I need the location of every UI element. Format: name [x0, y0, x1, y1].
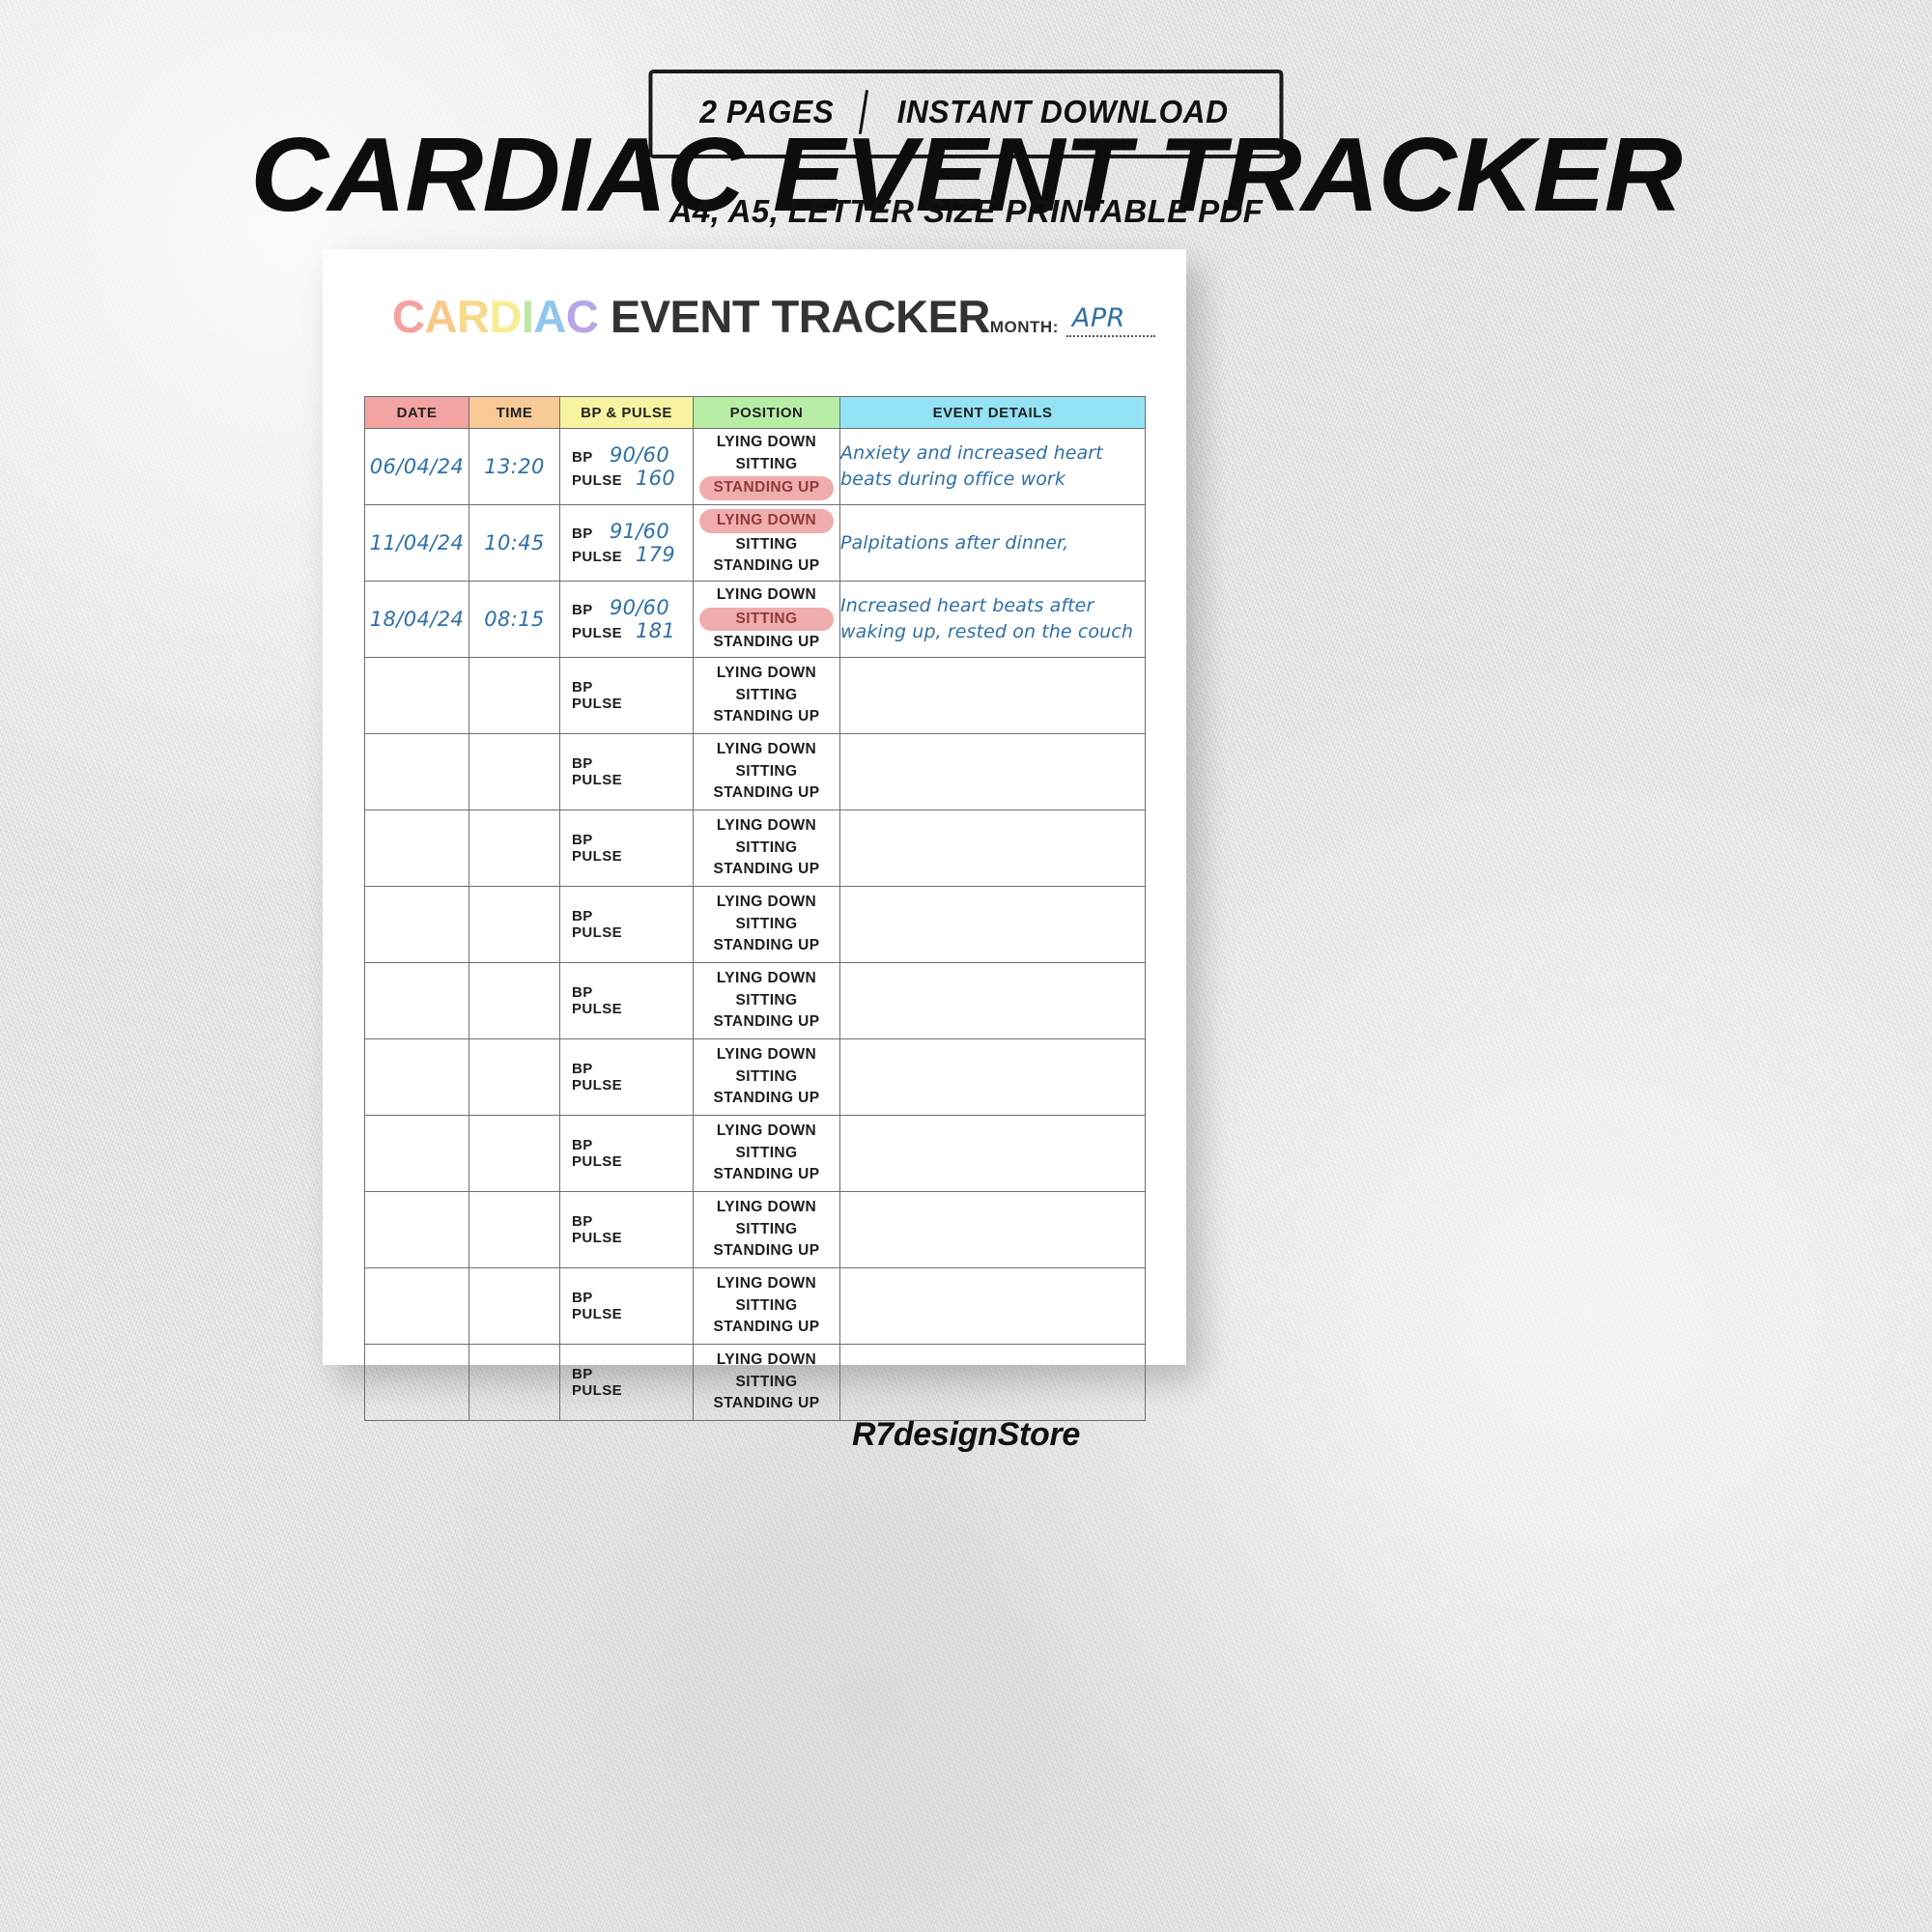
bp-label: BP	[572, 755, 593, 772]
pulse-value: 181	[636, 619, 683, 642]
table-row: 11/04/2410:45BP91/60PULSE179LYING DOWNSI…	[365, 505, 1146, 582]
cell-date[interactable]	[365, 1116, 469, 1192]
cell-position[interactable]: LYING DOWNSITTINGSTANDING UP	[694, 429, 840, 505]
pulse-label: PULSE	[572, 772, 622, 788]
cell-date[interactable]	[365, 963, 469, 1039]
position-option-standing-up[interactable]: STANDING UP	[694, 632, 839, 654]
bp-line-pulse: PULSE	[572, 696, 683, 712]
title-letter-3: R	[457, 291, 489, 342]
pulse-label: PULSE	[572, 472, 622, 489]
position-option-standing-up[interactable]: STANDING UP	[694, 1240, 839, 1263]
cell-time[interactable]	[469, 1039, 560, 1116]
bp-line-bp: BP	[572, 1366, 683, 1382]
pulse-label: PULSE	[572, 848, 622, 865]
pulse-label: PULSE	[572, 696, 622, 712]
bp-value: 90/60	[610, 596, 683, 619]
bp-line-pulse: PULSE	[572, 1077, 683, 1094]
bp-line-bp: BP	[572, 1061, 683, 1077]
bp-value: 91/60	[610, 520, 683, 543]
cell-time[interactable]	[469, 1192, 560, 1268]
position-option-lying-down[interactable]: LYING DOWN	[694, 892, 839, 914]
footer-brand: R7designStore	[0, 1416, 1932, 1454]
cell-date[interactable]	[365, 1192, 469, 1268]
cell-date[interactable]	[365, 1345, 469, 1421]
cell-position[interactable]: LYING DOWNSITTINGSTANDING UP	[694, 582, 840, 658]
cell-bp-pulse[interactable]: BPPULSE	[560, 810, 694, 887]
position-option-sitting[interactable]: SITTING	[694, 685, 839, 707]
bp-line-bp: BP	[572, 1213, 683, 1230]
cell-bp-pulse[interactable]: BPPULSE	[560, 734, 694, 810]
cell-bp-pulse[interactable]: BPPULSE	[560, 1192, 694, 1268]
position-option-lying-down[interactable]: LYING DOWN	[694, 663, 839, 685]
event-details-text: Increased heart beats after waking up, r…	[840, 593, 1145, 645]
table-row: BPPULSELYING DOWNSITTINGSTANDING UP	[365, 734, 1146, 810]
printable-sheet: CARDIAC EVENT TRACKER MONTH: APR DATE TI…	[323, 249, 1186, 1365]
cell-event-details[interactable]	[840, 1039, 1146, 1116]
cell-bp-pulse[interactable]: BPPULSE	[560, 1116, 694, 1192]
document-title: CARDIAC EVENT TRACKER	[392, 290, 990, 343]
cell-event-details[interactable]: Increased heart beats after waking up, r…	[840, 582, 1146, 658]
bp-line-pulse: PULSE	[572, 1230, 683, 1246]
position-option-standing-up[interactable]: STANDING UP	[694, 1393, 839, 1415]
position-option-standing-up[interactable]: STANDING UP	[694, 782, 839, 805]
title-letter-4: D	[489, 291, 521, 342]
cell-time[interactable]	[469, 1268, 560, 1345]
bp-line-bp: BP90/60	[572, 443, 683, 467]
position-option-sitting[interactable]: SITTING	[694, 838, 839, 860]
bp-label: BP	[572, 679, 593, 696]
cell-bp-pulse[interactable]: BP91/60PULSE179	[560, 505, 694, 582]
cell-time[interactable]	[469, 963, 560, 1039]
bp-line-bp: BP	[572, 984, 683, 1001]
position-option-lying-down[interactable]: LYING DOWN	[694, 1273, 839, 1295]
position-option-standing-up[interactable]: STANDING UP	[694, 859, 839, 881]
month-field-group: MONTH: APR	[990, 304, 1155, 339]
bp-line-bp: BP	[572, 679, 683, 696]
cell-bp-pulse[interactable]: BPPULSE	[560, 887, 694, 963]
pulse-value: 179	[636, 543, 683, 566]
position-option-lying-down[interactable]: LYING DOWN	[694, 1121, 839, 1143]
position-option-lying-down[interactable]: LYING DOWN	[694, 1350, 839, 1372]
position-option-standing-up[interactable]: STANDING UP	[694, 555, 839, 578]
cell-position[interactable]: LYING DOWNSITTINGSTANDING UP	[694, 505, 840, 582]
position-option-sitting[interactable]: SITTING	[694, 1143, 839, 1165]
position-option-standing-up[interactable]: STANDING UP	[694, 1164, 839, 1186]
cell-event-details[interactable]: Anxiety and increased heart beats during…	[840, 429, 1146, 505]
table-row: 18/04/2408:15BP90/60PULSE181LYING DOWNSI…	[365, 582, 1146, 658]
cell-position[interactable]: LYING DOWNSITTINGSTANDING UP	[694, 963, 840, 1039]
position-option-standing-up[interactable]: STANDING UP	[694, 1088, 839, 1110]
cell-date[interactable]	[365, 810, 469, 887]
cell-event-details[interactable]	[840, 1116, 1146, 1192]
bp-label: BP	[572, 832, 593, 848]
position-option-sitting[interactable]: SITTING	[694, 761, 839, 783]
column-header-bp-pulse: BP & PULSE	[560, 397, 694, 429]
month-label: MONTH:	[990, 318, 1059, 337]
bp-label: BP	[572, 526, 593, 542]
pulse-label: PULSE	[572, 924, 622, 941]
cell-bp-pulse[interactable]: BPPULSE	[560, 1039, 694, 1116]
title-letter-6: A	[533, 291, 565, 342]
cell-event-details[interactable]	[840, 810, 1146, 887]
cell-time[interactable]	[469, 810, 560, 887]
bp-line-bp: BP	[572, 1137, 683, 1153]
cell-event-details[interactable]	[840, 658, 1146, 734]
cell-position[interactable]: LYING DOWNSITTINGSTANDING UP	[694, 810, 840, 887]
cell-event-details[interactable]	[840, 1268, 1146, 1345]
table-body: 06/04/2413:20BP90/60PULSE160LYING DOWNSI…	[365, 429, 1146, 1421]
table-row: BPPULSELYING DOWNSITTINGSTANDING UP	[365, 963, 1146, 1039]
pulse-label: PULSE	[572, 1230, 622, 1246]
title-letter-2: A	[424, 291, 456, 342]
table-row: BPPULSELYING DOWNSITTINGSTANDING UP	[365, 887, 1146, 963]
bp-value: 90/60	[610, 443, 683, 467]
cell-event-details[interactable]	[840, 734, 1146, 810]
cell-time[interactable]	[469, 1116, 560, 1192]
pulse-label: PULSE	[572, 1382, 622, 1399]
position-option-lying-down[interactable]: LYING DOWN	[694, 1044, 839, 1066]
position-option-sitting[interactable]: SITTING	[694, 534, 839, 556]
position-option-sitting[interactable]: SITTING	[694, 990, 839, 1012]
bp-line-pulse: PULSE	[572, 1306, 683, 1322]
cell-date[interactable]: 06/04/24	[365, 429, 469, 505]
bp-line-bp: BP	[572, 832, 683, 848]
bp-line-pulse: PULSE	[572, 1382, 683, 1399]
pulse-label: PULSE	[572, 625, 622, 641]
column-header-position: POSITION	[694, 397, 840, 429]
cell-event-details[interactable]	[840, 1345, 1146, 1421]
cell-position[interactable]: LYING DOWNSITTINGSTANDING UP	[694, 658, 840, 734]
cell-position[interactable]: LYING DOWNSITTINGSTANDING UP	[694, 1192, 840, 1268]
position-option-lying-down[interactable]: LYING DOWN	[699, 509, 834, 533]
table-row: BPPULSELYING DOWNSITTINGSTANDING UP	[365, 1116, 1146, 1192]
position-option-sitting[interactable]: SITTING	[694, 454, 839, 476]
bp-line-pulse: PULSE160	[572, 467, 683, 490]
bp-label: BP	[572, 602, 593, 618]
cell-position[interactable]: LYING DOWNSITTINGSTANDING UP	[694, 1268, 840, 1345]
cell-date[interactable]: 11/04/24	[365, 505, 469, 582]
pulse-label: PULSE	[572, 1001, 622, 1017]
bp-label: BP	[572, 1290, 593, 1306]
bp-label: BP	[572, 1137, 593, 1153]
title-letter-1: C	[392, 291, 424, 342]
cell-position[interactable]: LYING DOWNSITTINGSTANDING UP	[694, 1345, 840, 1421]
bp-line-pulse: PULSE179	[572, 543, 683, 566]
cell-bp-pulse[interactable]: BPPULSE	[560, 1345, 694, 1421]
bp-line-pulse: PULSE	[572, 924, 683, 941]
bp-line-bp: BP	[572, 1290, 683, 1306]
position-option-standing-up[interactable]: STANDING UP	[694, 1317, 839, 1339]
title-letter-5: I	[522, 291, 534, 342]
title-rainbow-word: CARDIAC	[392, 291, 598, 342]
column-header-date: DATE	[365, 397, 469, 429]
column-header-event-details: EVENT DETAILS	[840, 397, 1146, 429]
bp-line-bp: BP	[572, 755, 683, 772]
cell-bp-pulse[interactable]: BP90/60PULSE160	[560, 429, 694, 505]
month-input[interactable]: APR	[1066, 304, 1155, 337]
position-option-lying-down[interactable]: LYING DOWN	[694, 1197, 839, 1219]
cell-date[interactable]	[365, 887, 469, 963]
bp-line-bp: BP90/60	[572, 596, 683, 619]
position-option-standing-up[interactable]: STANDING UP	[694, 1011, 839, 1034]
table-row: BPPULSELYING DOWNSITTINGSTANDING UP	[365, 1345, 1146, 1421]
event-details-text: Anxiety and increased heart beats during…	[840, 440, 1145, 493]
cell-bp-pulse[interactable]: BP90/60PULSE181	[560, 582, 694, 658]
table-header-row: DATE TIME BP & PULSE POSITION EVENT DETA…	[365, 397, 1146, 429]
pulse-value: 160	[636, 467, 683, 490]
pulse-label: PULSE	[572, 1306, 622, 1322]
bp-label: BP	[572, 984, 593, 1001]
table-row: 06/04/2413:20BP90/60PULSE160LYING DOWNSI…	[365, 429, 1146, 505]
cell-event-details[interactable]	[840, 963, 1146, 1039]
bp-label: BP	[572, 1061, 593, 1077]
cardiac-event-table: DATE TIME BP & PULSE POSITION EVENT DETA…	[364, 396, 1146, 1421]
table-row: BPPULSELYING DOWNSITTINGSTANDING UP	[365, 1192, 1146, 1268]
event-details-text: Palpitations after dinner,	[840, 530, 1145, 556]
cell-time[interactable]	[469, 734, 560, 810]
bp-label: BP	[572, 908, 593, 924]
cell-position[interactable]: LYING DOWNSITTINGSTANDING UP	[694, 1116, 840, 1192]
position-option-sitting[interactable]: SITTING	[694, 914, 839, 936]
table-row: BPPULSELYING DOWNSITTINGSTANDING UP	[365, 1039, 1146, 1116]
position-option-sitting[interactable]: SITTING	[694, 1066, 839, 1089]
position-option-sitting[interactable]: SITTING	[694, 1295, 839, 1318]
cell-date[interactable]	[365, 734, 469, 810]
cell-time[interactable]	[469, 1345, 560, 1421]
bp-line-pulse: PULSE	[572, 1001, 683, 1017]
bp-line-pulse: PULSE	[572, 772, 683, 788]
column-header-time: TIME	[469, 397, 560, 429]
cell-date[interactable]	[365, 1268, 469, 1345]
cell-time[interactable]: 08:15	[469, 582, 560, 658]
cell-event-details[interactable]	[840, 887, 1146, 963]
cell-time[interactable]	[469, 887, 560, 963]
position-option-lying-down[interactable]: LYING DOWN	[694, 739, 839, 761]
position-option-sitting[interactable]: SITTING	[694, 1372, 839, 1394]
cell-time[interactable]: 13:20	[469, 429, 560, 505]
bp-line-pulse: PULSE	[572, 848, 683, 865]
table-row: BPPULSELYING DOWNSITTINGSTANDING UP	[365, 658, 1146, 734]
pulse-label: PULSE	[572, 549, 622, 565]
bp-line-bp: BP91/60	[572, 520, 683, 543]
cell-bp-pulse[interactable]: BPPULSE	[560, 658, 694, 734]
cell-position[interactable]: LYING DOWNSITTINGSTANDING UP	[694, 734, 840, 810]
cell-date[interactable]: 18/04/24	[365, 582, 469, 658]
table-row: BPPULSELYING DOWNSITTINGSTANDING UP	[365, 810, 1146, 887]
promo-subtitle: A4, A5, LETTER SIZE PRINTABLE PDF	[0, 193, 1932, 230]
position-option-standing-up[interactable]: STANDING UP	[694, 706, 839, 728]
position-option-standing-up[interactable]: STANDING UP	[694, 935, 839, 957]
pulse-label: PULSE	[572, 1153, 622, 1170]
bp-label: BP	[572, 1366, 593, 1382]
cell-time[interactable]: 10:45	[469, 505, 560, 582]
title-letter-7: C	[566, 291, 598, 342]
cell-event-details[interactable]: Palpitations after dinner,	[840, 505, 1146, 582]
title-rest: EVENT TRACKER	[598, 291, 990, 342]
position-option-sitting[interactable]: SITTING	[694, 1219, 839, 1241]
cell-position[interactable]: LYING DOWNSITTINGSTANDING UP	[694, 1039, 840, 1116]
position-option-standing-up[interactable]: STANDING UP	[699, 476, 834, 500]
position-option-lying-down[interactable]: LYING DOWN	[694, 815, 839, 838]
sheet-header: CARDIAC EVENT TRACKER MONTH: APR	[392, 290, 1126, 361]
cell-bp-pulse[interactable]: BPPULSE	[560, 1268, 694, 1345]
cell-time[interactable]	[469, 658, 560, 734]
bp-label: BP	[572, 449, 593, 466]
bp-line-pulse: PULSE181	[572, 619, 683, 642]
position-option-lying-down[interactable]: LYING DOWN	[694, 968, 839, 990]
bp-line-pulse: PULSE	[572, 1153, 683, 1170]
pulse-label: PULSE	[572, 1077, 622, 1094]
position-option-lying-down[interactable]: LYING DOWN	[694, 584, 839, 607]
position-option-sitting[interactable]: SITTING	[699, 608, 834, 632]
table-row: BPPULSELYING DOWNSITTINGSTANDING UP	[365, 1268, 1146, 1345]
position-option-lying-down[interactable]: LYING DOWN	[694, 432, 839, 454]
cell-bp-pulse[interactable]: BPPULSE	[560, 963, 694, 1039]
bp-line-bp: BP	[572, 908, 683, 924]
bp-label: BP	[572, 1213, 593, 1230]
cell-date[interactable]	[365, 1039, 469, 1116]
cell-position[interactable]: LYING DOWNSITTINGSTANDING UP	[694, 887, 840, 963]
cell-date[interactable]	[365, 658, 469, 734]
cell-event-details[interactable]	[840, 1192, 1146, 1268]
month-value: APR	[1072, 303, 1125, 333]
